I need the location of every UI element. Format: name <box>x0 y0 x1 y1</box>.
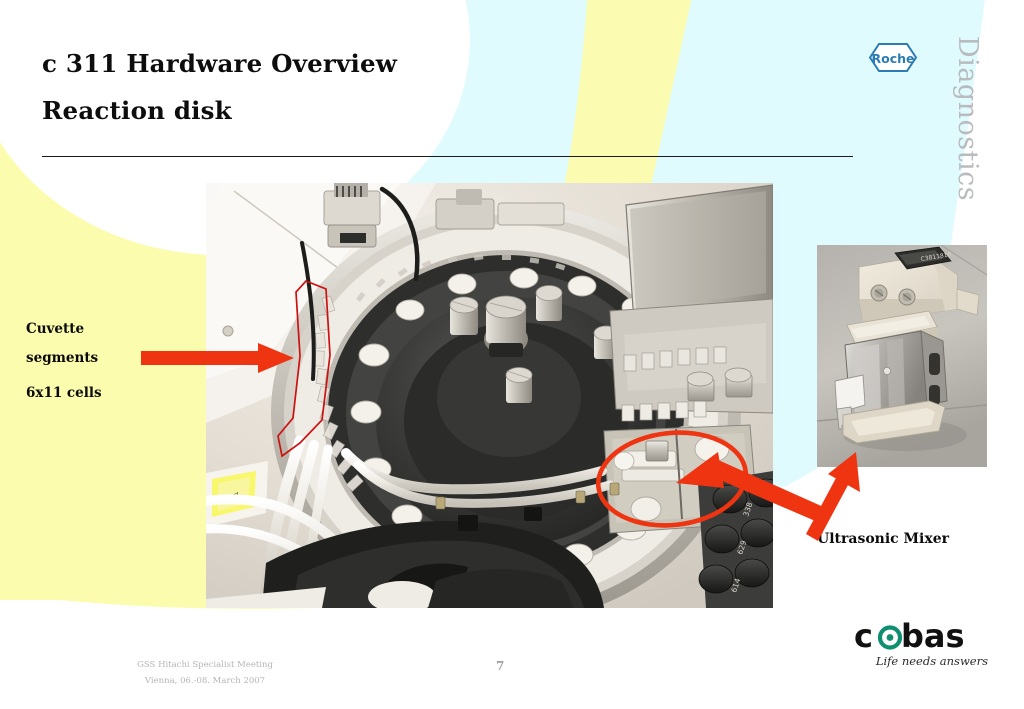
footer-meeting-info: GSS Hitachi Specialist Meeting Vienna, 0… <box>80 657 330 689</box>
hub-collar <box>489 343 523 357</box>
cobas-letter-c: c <box>854 617 873 655</box>
page-title: c 311 Hardware Overview Reaction disk <box>42 40 662 134</box>
cuvette-label-line-2: segments <box>26 344 98 373</box>
title-divider-rule <box>42 156 853 157</box>
cobas-logo: c bas Life needs answers <box>852 617 992 673</box>
title-line-2: Reaction disk <box>42 87 662 134</box>
roche-wordmark: Roche <box>872 51 915 66</box>
reaction-disk-photo-svg: 338 629 614 ⚠ <box>206 183 773 608</box>
cuvette-segments-label: Cuvette segments <box>26 315 98 373</box>
cobas-logo-svg: c bas Life needs answers <box>852 617 992 673</box>
diagnostics-vertical-label: Diagnostics <box>952 36 983 201</box>
cuvette-label-line-1: Cuvette <box>26 315 98 344</box>
reagent-rack: 338 629 614 <box>698 471 773 608</box>
slide-canvas: c 311 Hardware Overview Reaction disk Ro… <box>0 0 1024 709</box>
page-number: 7 <box>496 659 504 673</box>
title-line-1: c 311 Hardware Overview <box>42 40 662 87</box>
roche-logo: Roche <box>860 42 926 73</box>
footer-line-1: GSS Hitachi Specialist Meeting <box>80 657 330 673</box>
ultrasonic-mixer-label: Ultrasonic Mixer <box>817 531 949 547</box>
reaction-disk-photo: 338 629 614 ⚠ <box>206 183 773 608</box>
right-block-assembly <box>610 299 773 421</box>
ultrasonic-mixer-photo-svg: C3811810 <box>817 245 987 467</box>
cobas-letters-bas: bas <box>901 617 965 655</box>
cobas-tagline: Life needs answers <box>875 654 988 668</box>
panel-screw <box>223 326 233 336</box>
ultrasonic-mixer-photo: C3811810 <box>817 245 987 467</box>
roche-hexagon-icon: Roche <box>860 42 926 73</box>
cuvette-cells-count-label: 6x11 cells <box>26 385 102 401</box>
footer-line-2: Vienna, 06.-08. March 2007 <box>80 673 330 689</box>
cobas-o-dot <box>887 634 894 641</box>
